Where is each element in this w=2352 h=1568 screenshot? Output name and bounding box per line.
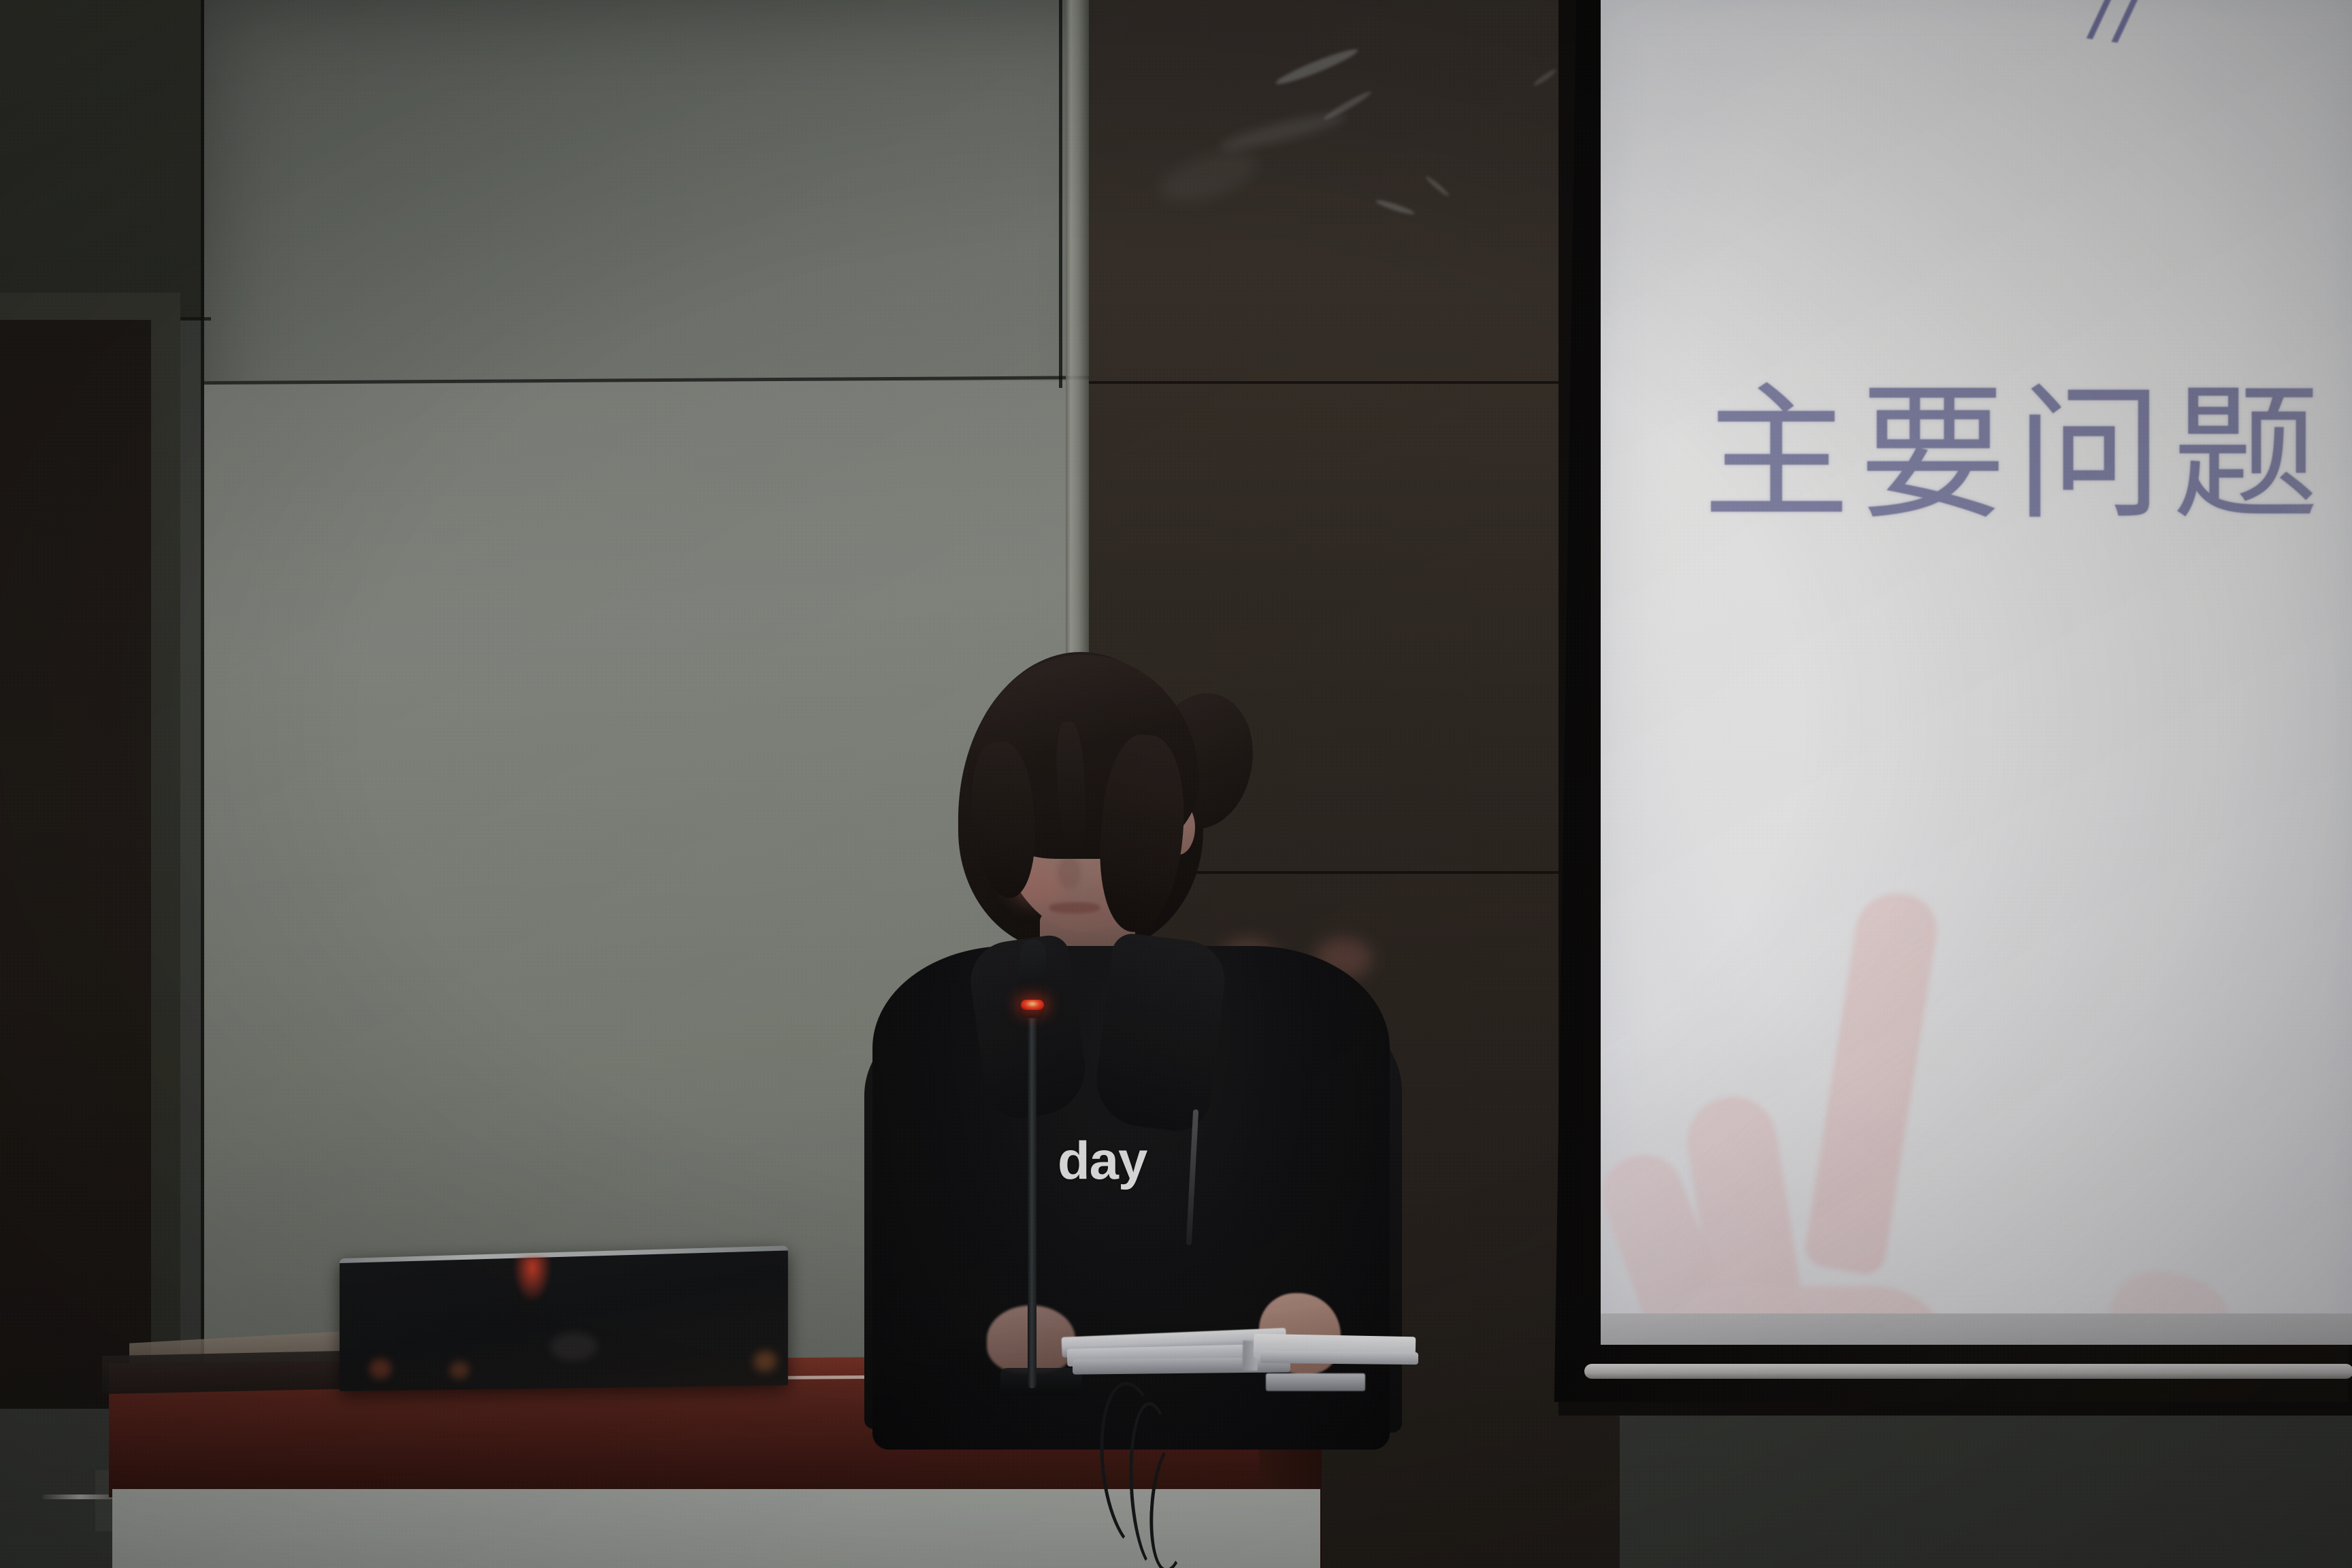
speaker-mouth bbox=[1049, 902, 1100, 913]
laptop-reflection bbox=[754, 1351, 777, 1372]
wood-panel-seam-upper bbox=[1089, 381, 1620, 384]
open-book[interactable] bbox=[1062, 1320, 1416, 1395]
slide-partial-mark: // bbox=[2085, 0, 2146, 56]
wall-seam-vertical-right bbox=[1059, 0, 1062, 388]
laptop-reflection bbox=[370, 1358, 392, 1379]
projection-screen-roller-bar[interactable] bbox=[1584, 1364, 2352, 1379]
speaker-nose bbox=[1058, 856, 1081, 889]
slide-hand-index-finger bbox=[1803, 887, 1942, 1277]
laptop-reflection bbox=[449, 1361, 469, 1379]
slide-hand-photo bbox=[1628, 851, 2186, 1338]
laptop-reflection bbox=[550, 1332, 598, 1361]
microphone-led-indicator bbox=[1021, 1000, 1044, 1010]
microphone-gooseneck[interactable] bbox=[1028, 1007, 1036, 1388]
book-text-block bbox=[1266, 1373, 1365, 1391]
door-handle[interactable] bbox=[42, 1494, 118, 1499]
room-door[interactable] bbox=[0, 320, 151, 1409]
hoodie-graphic-text: day bbox=[1058, 1130, 1147, 1192]
book-page bbox=[1073, 1357, 1290, 1374]
laptop-lid[interactable] bbox=[340, 1245, 788, 1391]
slide-heading: 主要问题 bbox=[1703, 381, 2329, 528]
projection-screen-surface: // 主要问题 bbox=[1601, 0, 2352, 1338]
book-page bbox=[1260, 1351, 1418, 1365]
speaker-hood-right bbox=[1092, 932, 1230, 1135]
scene-root: // 主要问题 bbox=[0, 0, 2352, 1568]
projection-screen-bottom-strip bbox=[1601, 1313, 2352, 1345]
wall-slab-upper-left bbox=[0, 0, 204, 320]
wall-seam-vertical-left bbox=[201, 0, 204, 1429]
laptop-indicator-light bbox=[513, 1256, 551, 1302]
